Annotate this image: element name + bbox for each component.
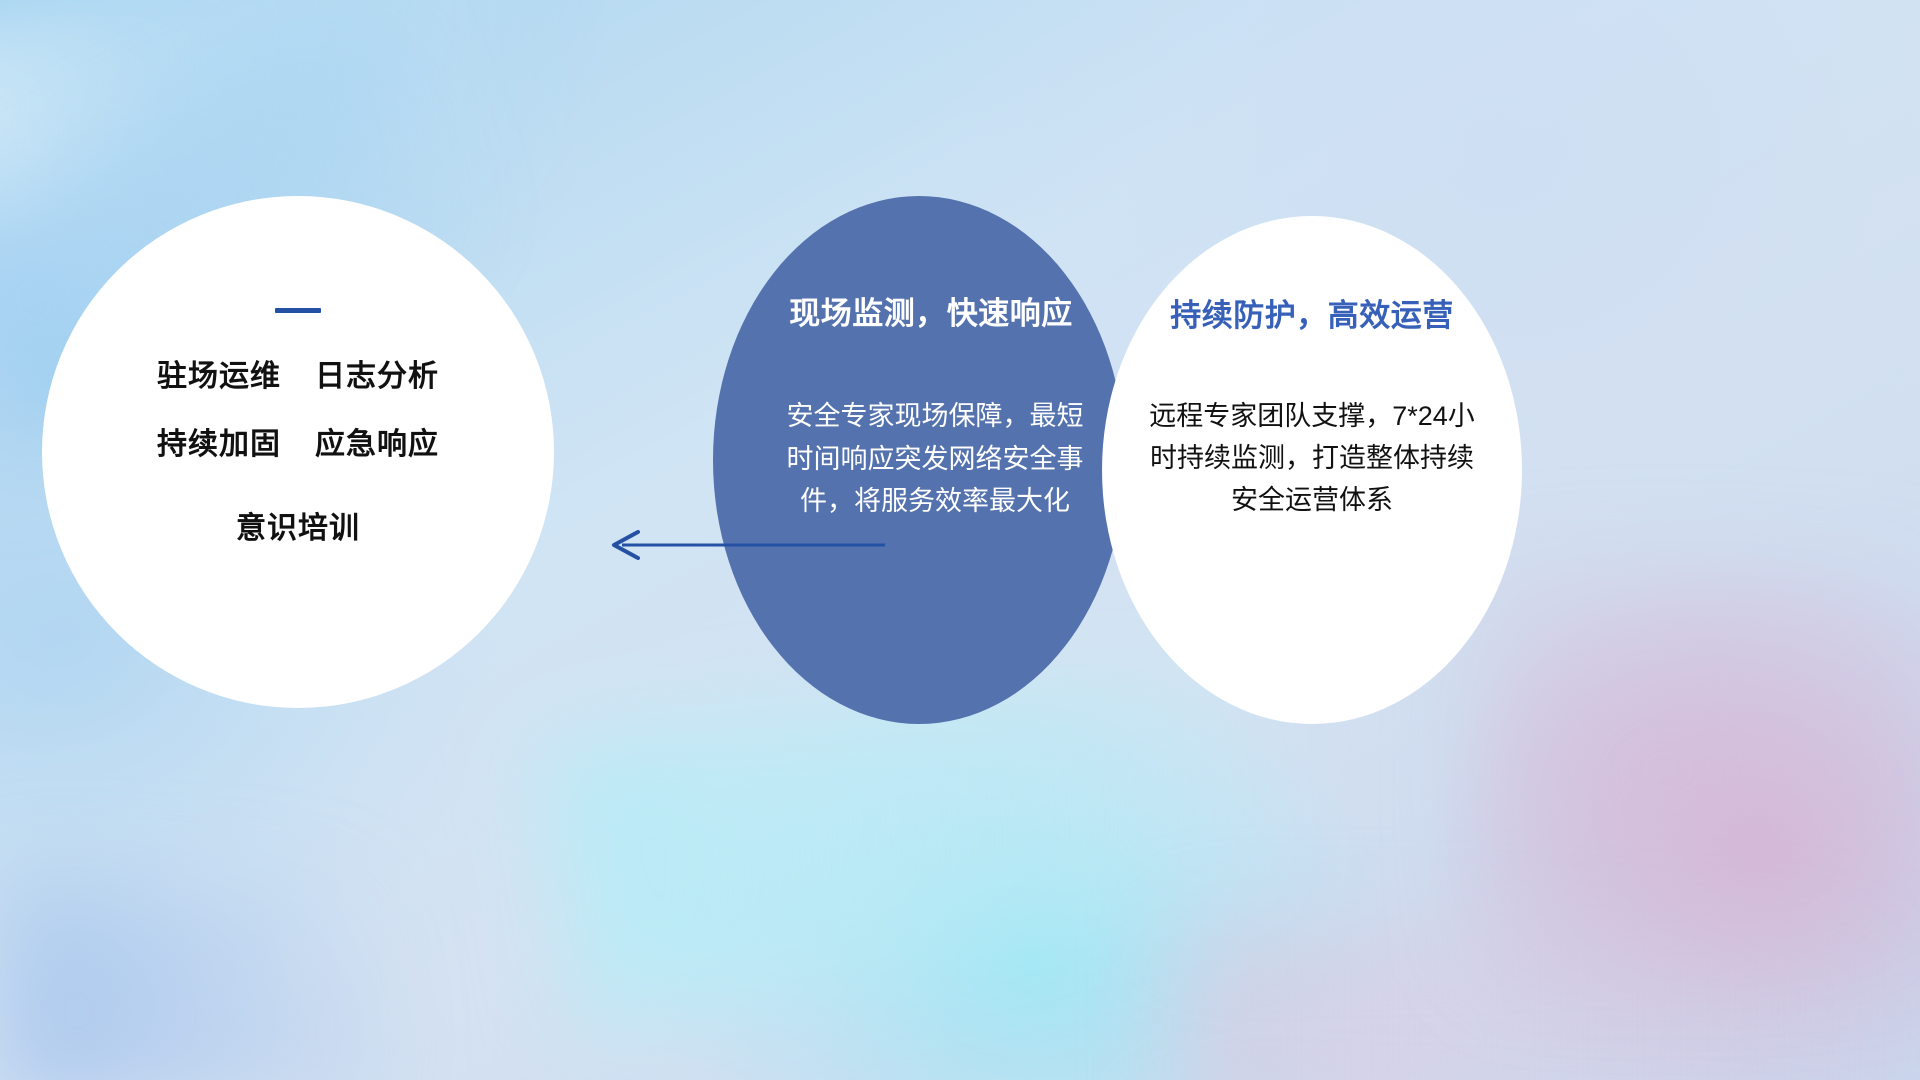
- left-circle-content: 驻场运维 日志分析 持续加固 应急响应 意识培训: [42, 196, 554, 708]
- middle-circle-body: 安全专家现场保障，最短时间响应突发网络安全事件，将服务效率最大化: [776, 395, 1094, 523]
- background-streak-bottom-left: [0, 880, 380, 1080]
- middle-circle-title: 现场监测，快速响应: [789, 288, 1073, 333]
- right-circle-title: 持续防护，高效运营: [1170, 290, 1454, 335]
- capability-tag: 意识培训: [236, 503, 360, 547]
- right-circle-body: 远程专家团队支撑，7*24小时持续监测，打造整体持续安全运营体系: [1138, 395, 1486, 521]
- right-circle-content: 持续防护，高效运营 远程专家团队支撑，7*24小时持续监测，打造整体持续安全运营…: [1102, 216, 1522, 724]
- middle-circle-content: 现场监测，快速响应 安全专家现场保障，最短时间响应突发网络安全事件，将服务效率最…: [713, 196, 1125, 724]
- capability-row: 持续加固 应急响应: [157, 419, 439, 463]
- capability-row: 意识培训: [236, 503, 360, 547]
- background-streak-pink-right: [1480, 560, 1920, 980]
- slide-canvas: 驻场运维 日志分析 持续加固 应急响应 意识培训 现场监测，快速响应 安全专家现…: [0, 0, 1920, 1080]
- divider-dash: [275, 308, 321, 313]
- capability-tag: 应急响应: [315, 419, 439, 463]
- capability-tag: 持续加固: [157, 419, 281, 463]
- capability-tag: 驻场运维: [157, 351, 281, 395]
- capability-row: 驻场运维 日志分析: [157, 351, 439, 395]
- background-streak-pink-bottom: [1180, 930, 1920, 1080]
- capability-tag: 日志分析: [315, 351, 439, 395]
